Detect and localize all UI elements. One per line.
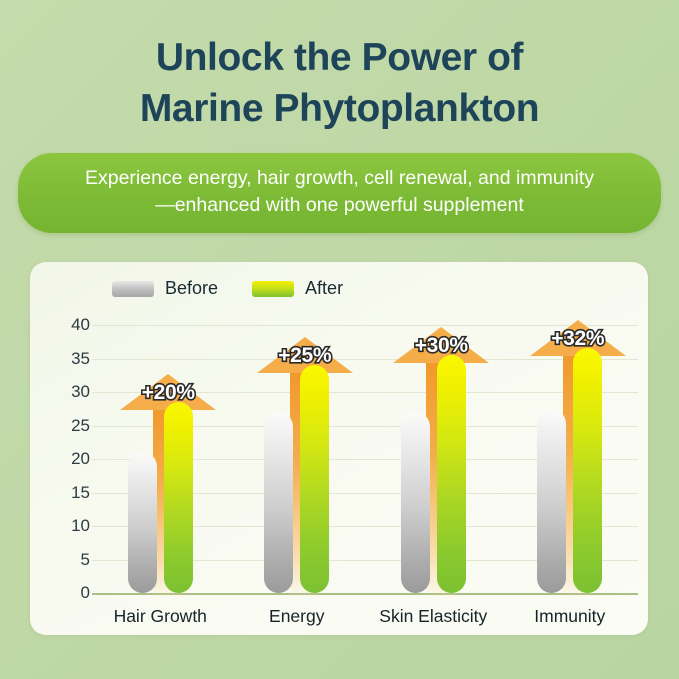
- y-axis-tick-10: 10: [50, 516, 90, 536]
- category-label: Energy: [229, 606, 365, 627]
- bar-after: [300, 365, 329, 593]
- growth-badge: +32%: [551, 327, 604, 351]
- category-label: Hair Growth: [92, 606, 228, 627]
- bar-after: [437, 355, 466, 593]
- bar-after: [573, 348, 602, 593]
- bar-group: +32%Immunity: [502, 262, 638, 635]
- bars-wrapper: [229, 262, 365, 593]
- growth-badge: +20%: [142, 381, 195, 405]
- subtitle-line-2: —enhanced with one powerful supplement: [44, 192, 635, 219]
- y-axis-tick-40: 40: [50, 315, 90, 335]
- subtitle-banner: Experience energy, hair growth, cell ren…: [18, 153, 661, 233]
- y-axis-tick-35: 35: [50, 349, 90, 369]
- bars-wrapper: [92, 262, 228, 593]
- y-axis-tick-30: 30: [50, 382, 90, 402]
- bar-before: [128, 452, 157, 593]
- page-title: Unlock the Power of Marine Phytoplankton: [0, 0, 679, 135]
- subtitle-line-1: Experience energy, hair growth, cell ren…: [44, 165, 635, 192]
- bars-wrapper: [365, 262, 501, 593]
- bars-wrapper: [502, 262, 638, 593]
- growth-badge: +25%: [278, 344, 331, 368]
- growth-badge: +30%: [415, 334, 468, 358]
- y-axis-tick-25: 25: [50, 416, 90, 436]
- page-title-line-2: Marine Phytoplankton: [0, 83, 679, 134]
- y-axis-tick-5: 5: [50, 550, 90, 570]
- bar-before: [537, 409, 566, 593]
- bar-before: [401, 412, 430, 593]
- y-axis-tick-15: 15: [50, 483, 90, 503]
- chart-plot-area: 0510152025303540 +20%Hair Growth+25%Ener…: [30, 262, 648, 635]
- chart-card: Before After 0510152025303540 +20%Hair G…: [30, 262, 648, 635]
- bar-before: [264, 412, 293, 593]
- y-axis-tick-0: 0: [50, 583, 90, 603]
- category-label: Immunity: [502, 606, 638, 627]
- category-label: Skin Elasticity: [365, 606, 501, 627]
- page-title-line-1: Unlock the Power of: [0, 32, 679, 83]
- bar-group: +30%Skin Elasticity: [365, 262, 501, 635]
- chart-bar-groups: +20%Hair Growth+25%Energy+30%Skin Elasti…: [92, 262, 638, 635]
- bar-group: +20%Hair Growth: [92, 262, 228, 635]
- bar-group: +25%Energy: [229, 262, 365, 635]
- bar-after: [164, 402, 193, 593]
- y-axis-tick-20: 20: [50, 449, 90, 469]
- y-axis-labels: 0510152025303540: [50, 262, 90, 635]
